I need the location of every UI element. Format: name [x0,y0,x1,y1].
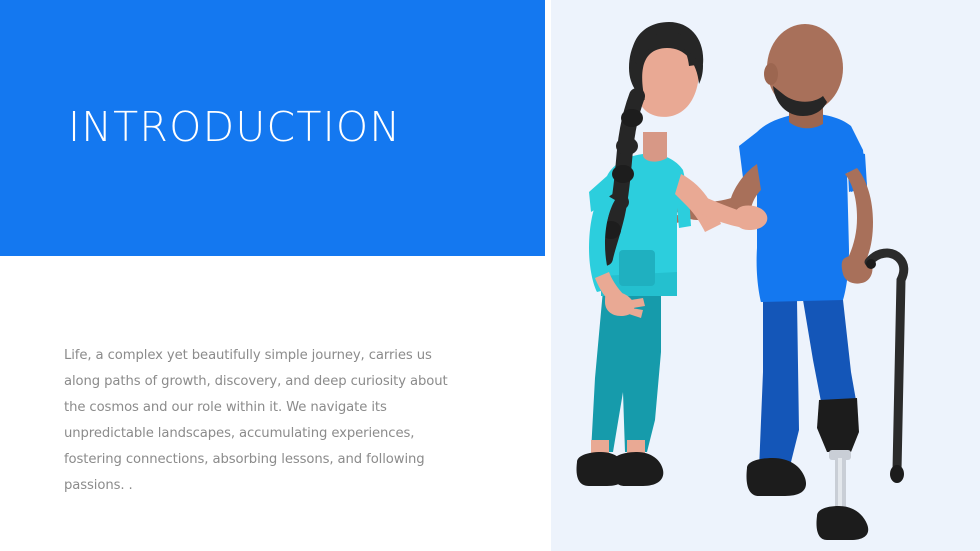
body-paragraph: Life, a complex yet beautifully simple j… [64,343,464,499]
title-banner: INTRODUCTION [0,0,545,256]
illustration-nurse-assisting-patient [551,0,980,551]
right-image-pane [551,0,980,551]
left-content-pane: INTRODUCTION Life, a complex yet beautif… [0,0,545,551]
slide-introduction: INTRODUCTION Life, a complex yet beautif… [0,0,980,551]
page-title: INTRODUCTION [68,103,401,151]
pocket [619,250,655,286]
